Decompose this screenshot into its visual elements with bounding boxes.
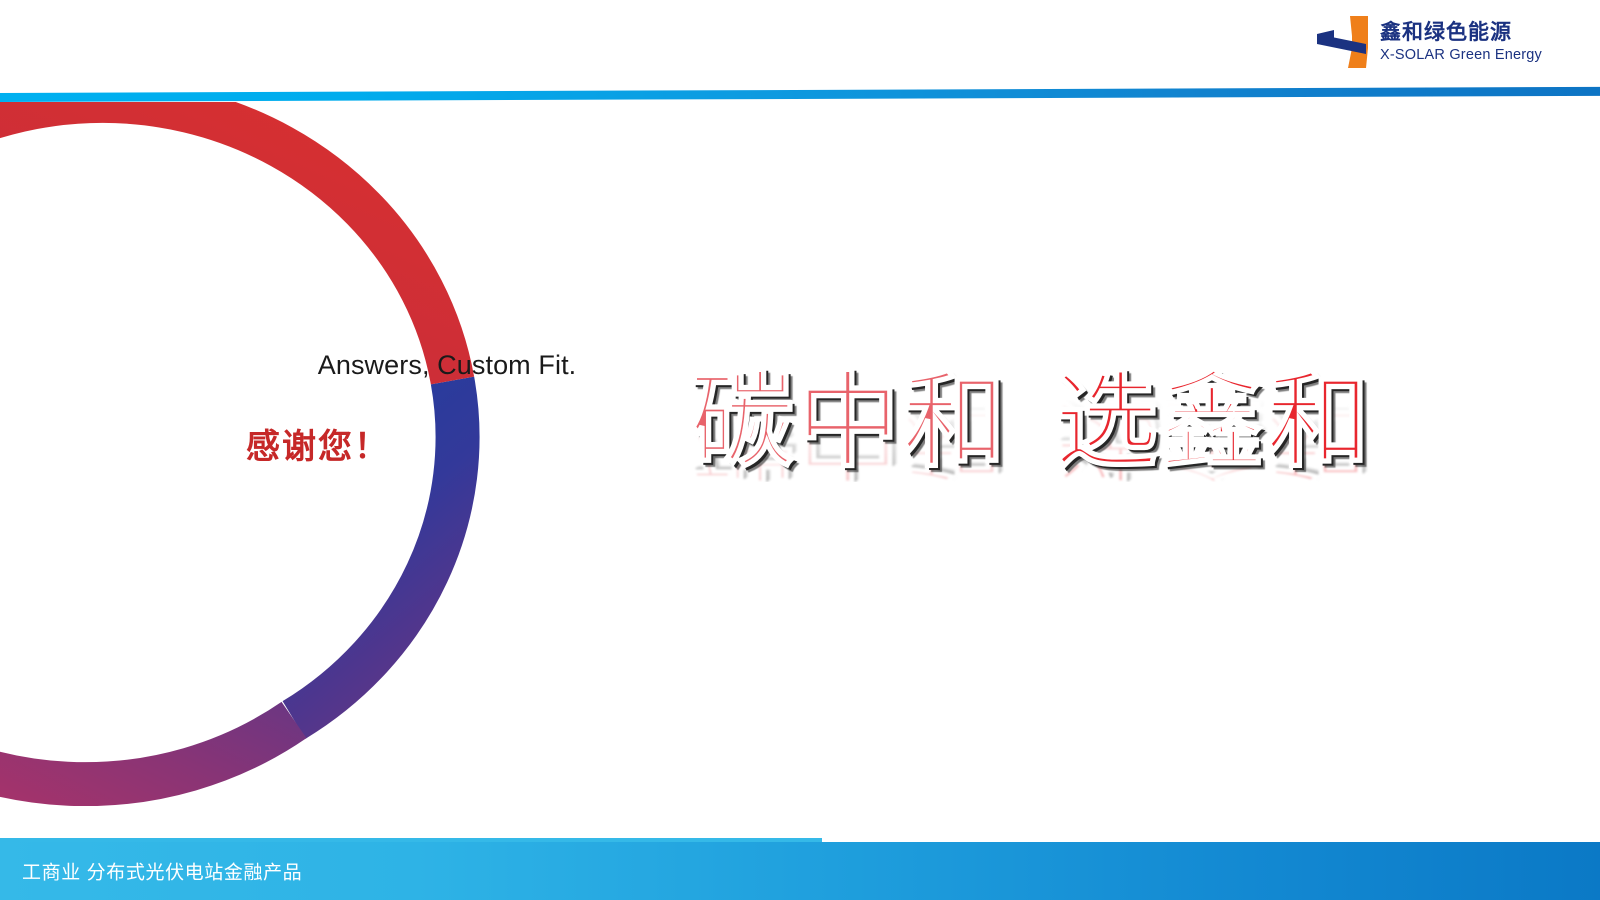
company-logo: 鑫和绿色能源 X-SOLAR Green Energy [1308, 14, 1542, 70]
slide-header: 鑫和绿色能源 X-SOLAR Green Energy [0, 0, 1600, 92]
gradient-ring-graphic [0, 102, 600, 806]
slide-body: Answers, Custom Fit. 感谢您！ 碳中和 选鑫和 碳中和 选鑫… [0, 102, 1600, 820]
gradient-ring-icon [0, 102, 600, 806]
logo-company-en: X-SOLAR Green Energy [1380, 48, 1542, 63]
logo-text-block: 鑫和绿色能源 X-SOLAR Green Energy [1380, 22, 1542, 63]
footer-label: 工商业 分布式光伏电站金融产品 [22, 858, 302, 885]
wordart-part-two: 选鑫和 [1054, 370, 1372, 474]
x-solar-logo-mark-icon [1308, 14, 1370, 70]
wordart-main: 碳中和 选鑫和 [690, 370, 1372, 474]
presentation-slide: 鑫和绿色能源 X-SOLAR Green Energy [0, 0, 1600, 900]
wordart-part-one: 碳中和 [690, 370, 1008, 474]
slide-footer: 工商业 分布式光伏电站金融产品 [0, 842, 1600, 900]
wordart-headline: 碳中和 选鑫和 碳中和 选鑫和 [690, 370, 1450, 600]
logo-company-cn: 鑫和绿色能源 [1380, 22, 1542, 43]
